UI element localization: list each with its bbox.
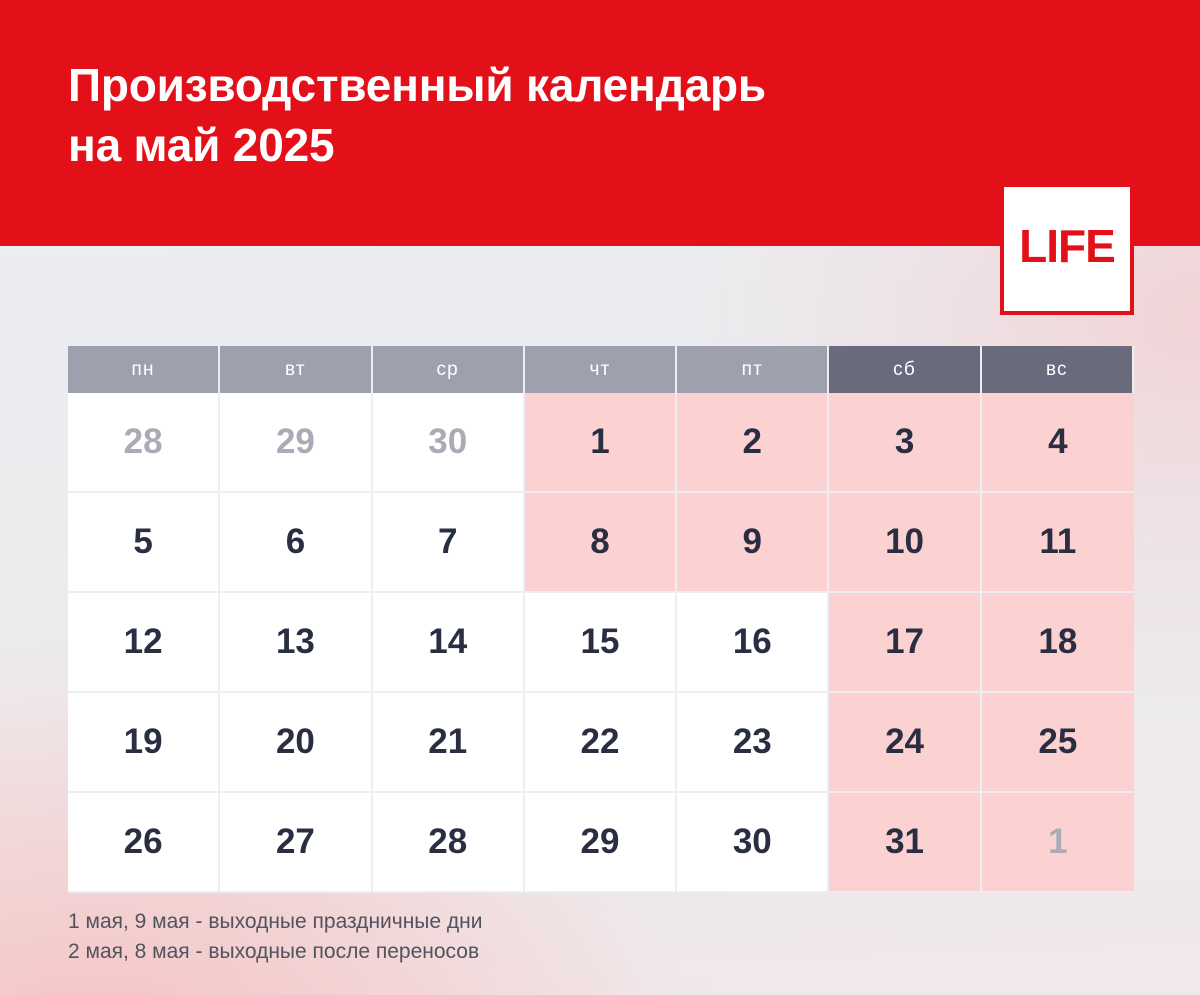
weekday-header-сб: сб <box>829 346 981 393</box>
day-cell[interactable]: 7 <box>373 493 525 593</box>
day-cell[interactable]: 11 <box>982 493 1134 593</box>
weekday-header-ср: ср <box>373 346 525 393</box>
day-cell[interactable]: 9 <box>677 493 829 593</box>
life-logo: LIFE <box>1000 183 1134 315</box>
day-cell[interactable]: 26 <box>68 793 220 893</box>
day-cell[interactable]: 5 <box>68 493 220 593</box>
day-cell[interactable]: 15 <box>525 593 677 693</box>
day-cell[interactable]: 13 <box>220 593 372 693</box>
footer-notes: 1 мая, 9 мая - выходные праздничные дни2… <box>68 907 483 967</box>
day-cell[interactable]: 6 <box>220 493 372 593</box>
day-cell[interactable]: 4 <box>982 393 1134 493</box>
infographic-page: Производственный календарь на май 2025 L… <box>0 0 1200 995</box>
weekday-header-вс: вс <box>982 346 1134 393</box>
day-cell[interactable]: 20 <box>220 693 372 793</box>
day-cell[interactable]: 24 <box>829 693 981 793</box>
weekday-header-пн: пн <box>68 346 220 393</box>
day-cell[interactable]: 17 <box>829 593 981 693</box>
day-cell[interactable]: 1 <box>982 793 1134 893</box>
day-cell[interactable]: 8 <box>525 493 677 593</box>
weekday-header-пт: пт <box>677 346 829 393</box>
weekday-header-чт: чт <box>525 346 677 393</box>
day-cell[interactable]: 1 <box>525 393 677 493</box>
day-cell[interactable]: 29 <box>220 393 372 493</box>
footer-note-line: 2 мая, 8 мая - выходные после переносов <box>68 937 483 967</box>
day-cell[interactable]: 22 <box>525 693 677 793</box>
day-cell[interactable]: 19 <box>68 693 220 793</box>
day-cell[interactable]: 25 <box>982 693 1134 793</box>
life-logo-text: LIFE <box>1019 223 1115 269</box>
day-cell[interactable]: 10 <box>829 493 981 593</box>
calendar-grid: пнвтсрчтптсбвс28293012345678910111213141… <box>68 346 1134 893</box>
day-cell[interactable]: 2 <box>677 393 829 493</box>
day-cell[interactable]: 30 <box>677 793 829 893</box>
day-cell[interactable]: 21 <box>373 693 525 793</box>
page-title: Производственный календарь на май 2025 <box>68 56 968 176</box>
day-cell[interactable]: 14 <box>373 593 525 693</box>
day-cell[interactable]: 12 <box>68 593 220 693</box>
day-cell[interactable]: 23 <box>677 693 829 793</box>
day-cell[interactable]: 28 <box>373 793 525 893</box>
day-cell[interactable]: 3 <box>829 393 981 493</box>
day-cell[interactable]: 28 <box>68 393 220 493</box>
day-cell[interactable]: 27 <box>220 793 372 893</box>
day-cell[interactable]: 29 <box>525 793 677 893</box>
day-cell[interactable]: 30 <box>373 393 525 493</box>
day-cell[interactable]: 31 <box>829 793 981 893</box>
day-cell[interactable]: 16 <box>677 593 829 693</box>
footer-note-line: 1 мая, 9 мая - выходные праздничные дни <box>68 907 483 937</box>
day-cell[interactable]: 18 <box>982 593 1134 693</box>
weekday-header-вт: вт <box>220 346 372 393</box>
